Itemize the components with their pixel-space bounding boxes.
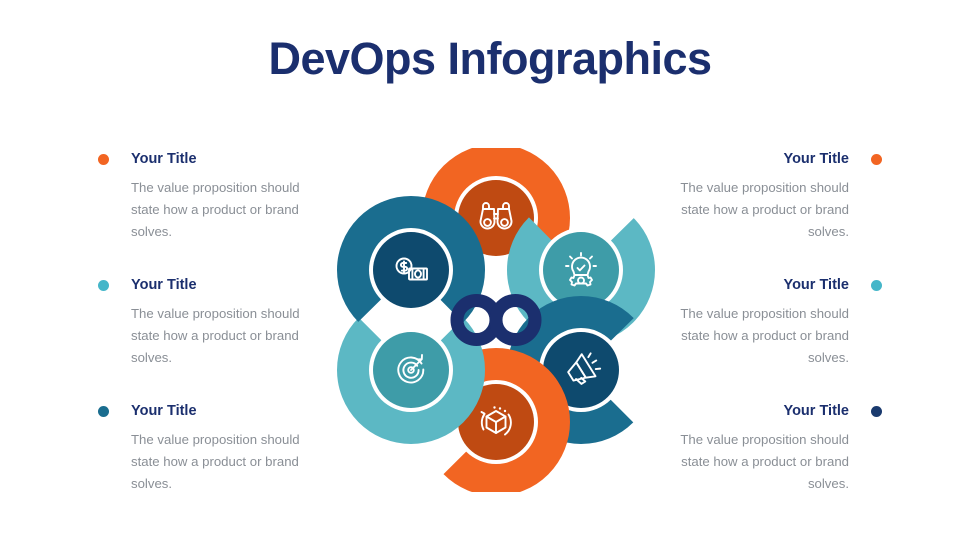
slide-canvas: DevOps Infographics Your Title The value… <box>0 0 980 551</box>
text-block-right-middle: Your Title The value proposition should … <box>652 276 882 370</box>
text-block-body: The value proposition should state how a… <box>652 303 882 370</box>
infinity-symbol-icon <box>456 301 535 340</box>
petal-upper-left[interactable] <box>355 214 467 326</box>
text-block-title: Your Title <box>783 403 849 419</box>
bullet-dot-icon <box>871 406 882 417</box>
text-block-title: Your Title <box>783 277 849 293</box>
bullet-dot-icon <box>98 406 109 417</box>
text-block-right-top: Your Title The value proposition should … <box>652 150 882 244</box>
infinity-right-loop <box>496 301 535 340</box>
bullet-dot-icon <box>871 154 882 165</box>
bullet-dot-icon <box>98 154 109 165</box>
text-block-header: Your Title <box>98 150 328 168</box>
text-block-title: Your Title <box>131 277 197 293</box>
text-block-title: Your Title <box>131 151 197 167</box>
text-block-header: Your Title <box>98 276 328 294</box>
text-block-body: The value proposition should state how a… <box>98 177 328 244</box>
text-block-body: The value proposition should state how a… <box>98 429 328 496</box>
text-block-header: Your Title <box>652 276 882 294</box>
petal-lower-left[interactable] <box>355 314 467 426</box>
text-block-left-middle: Your Title The value proposition should … <box>98 276 328 370</box>
devops-cycle-diagram <box>328 148 664 492</box>
text-block-header: Your Title <box>98 402 328 420</box>
page-title: DevOps Infographics <box>0 34 980 84</box>
text-block-right-bottom: Your Title The value proposition should … <box>652 402 882 496</box>
text-block-body: The value proposition should state how a… <box>652 429 882 496</box>
text-block-body: The value proposition should state how a… <box>98 303 328 370</box>
text-block-left-bottom: Your Title The value proposition should … <box>98 402 328 496</box>
text-block-header: Your Title <box>652 402 882 420</box>
text-block-header: Your Title <box>652 150 882 168</box>
text-block-title: Your Title <box>783 151 849 167</box>
bullet-dot-icon <box>871 280 882 291</box>
text-block-left-top: Your Title The value proposition should … <box>98 150 328 244</box>
text-block-body: The value proposition should state how a… <box>652 177 882 244</box>
bullet-dot-icon <box>98 280 109 291</box>
text-block-title: Your Title <box>131 403 197 419</box>
